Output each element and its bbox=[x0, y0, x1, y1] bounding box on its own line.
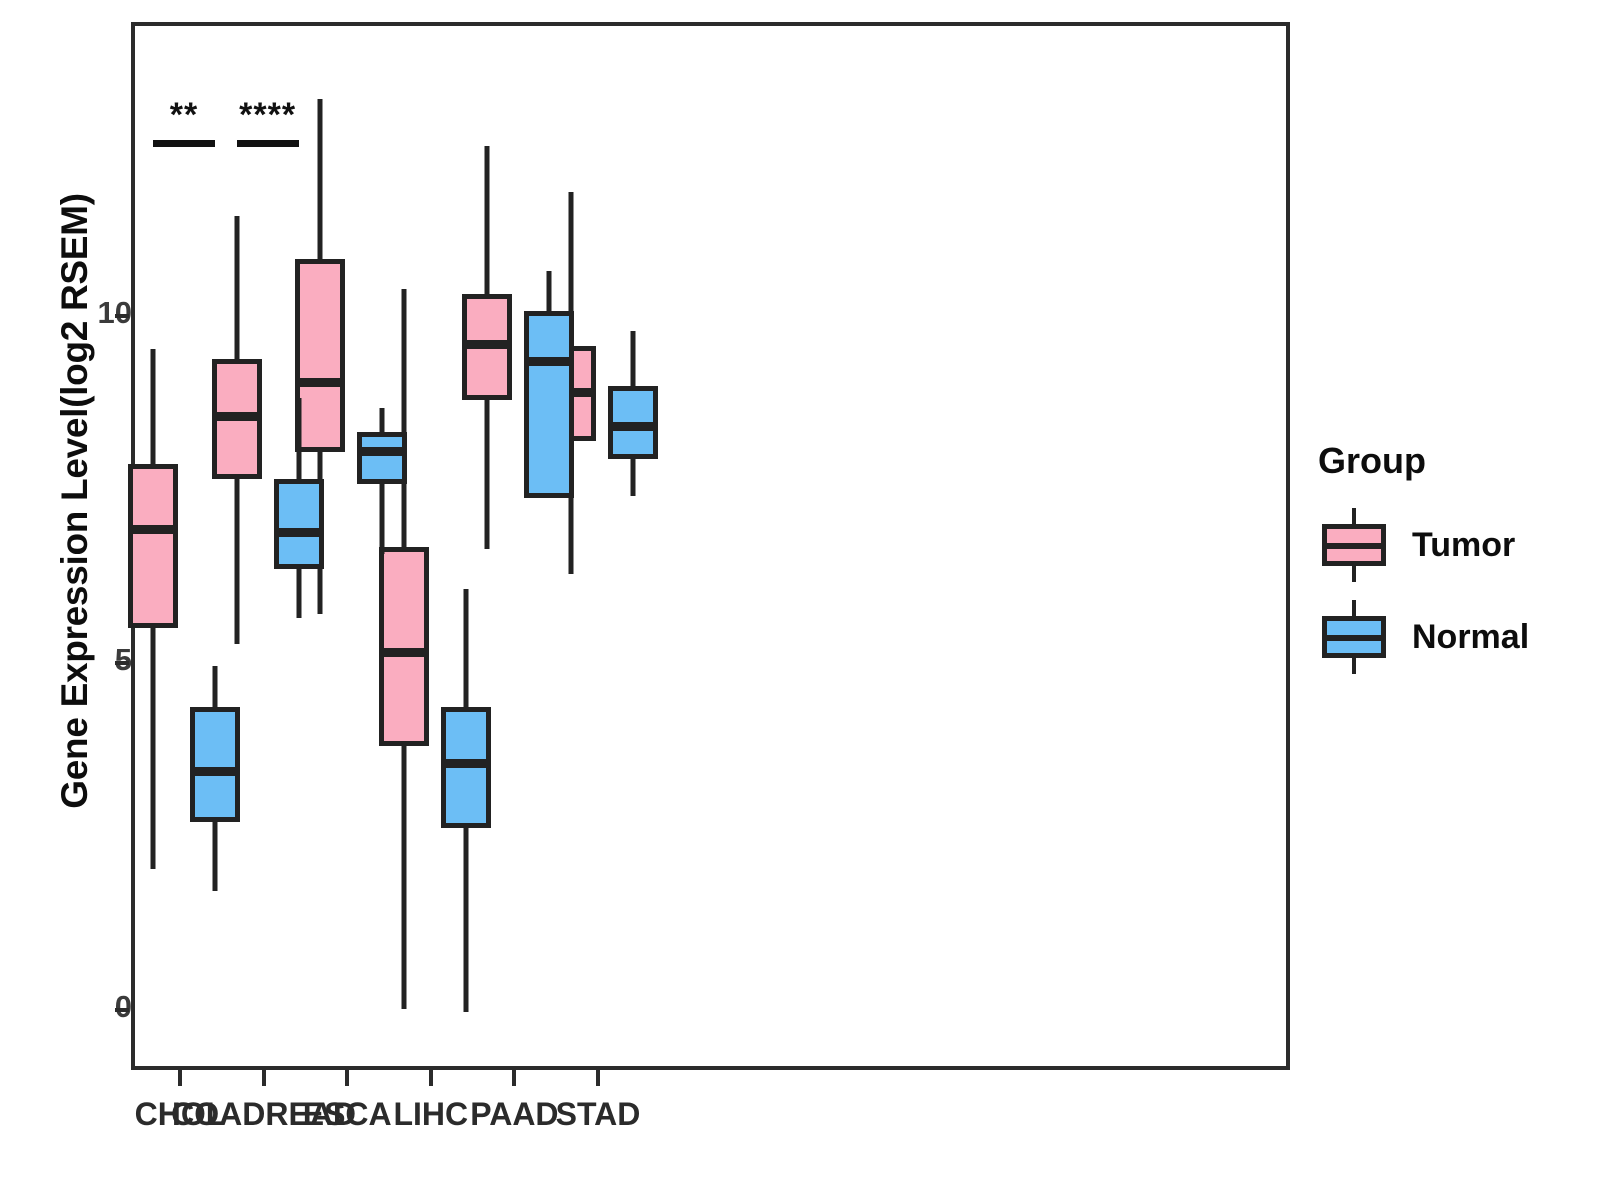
legend-label: Tumor bbox=[1412, 526, 1515, 565]
y-tick-label: 10 bbox=[72, 295, 132, 331]
median-line bbox=[212, 412, 262, 421]
median-line bbox=[462, 340, 512, 349]
median-line bbox=[357, 447, 407, 456]
significance-label: **** bbox=[239, 96, 296, 135]
box-lihc-tumor bbox=[379, 547, 429, 746]
x-tick-mark bbox=[596, 1070, 600, 1086]
x-tick-mark bbox=[178, 1070, 182, 1086]
median-line bbox=[441, 759, 491, 768]
legend-key-icon bbox=[1318, 600, 1390, 674]
plot-panel: ****** bbox=[131, 22, 1290, 1070]
box-chol-normal bbox=[190, 707, 240, 822]
legend-label: Normal bbox=[1412, 618, 1529, 657]
median-line bbox=[128, 525, 178, 534]
y-tick-mark bbox=[115, 1008, 129, 1012]
median-line bbox=[190, 767, 240, 776]
legend-entries: TumorNormal bbox=[1318, 508, 1588, 674]
box-esca-tumor bbox=[295, 259, 345, 452]
y-axis-title: Gene Expression Level(log2 RSEM) bbox=[54, 121, 96, 881]
x-tick-label-paad: PAAD bbox=[470, 1096, 558, 1133]
legend-title: Group bbox=[1318, 440, 1588, 482]
chart-root: Gene Expression Level(log2 RSEM) 0510 CH… bbox=[0, 0, 1600, 1200]
box-paad-normal bbox=[524, 311, 574, 498]
median-line bbox=[608, 422, 658, 431]
x-tick-mark bbox=[429, 1070, 433, 1086]
legend-key-icon bbox=[1318, 508, 1390, 582]
x-tick-mark bbox=[512, 1070, 516, 1086]
legend-item-normal[interactable]: Normal bbox=[1318, 600, 1588, 674]
median-line bbox=[274, 528, 324, 537]
legend-item-tumor[interactable]: Tumor bbox=[1318, 508, 1588, 582]
median-line bbox=[379, 648, 429, 657]
median-line bbox=[524, 357, 574, 366]
x-tick-mark bbox=[262, 1070, 266, 1086]
significance-bar bbox=[153, 140, 215, 147]
y-tick-label: 5 bbox=[72, 642, 132, 678]
significance-bar bbox=[237, 140, 299, 147]
x-tick-label-esca: ESCA bbox=[303, 1096, 392, 1133]
x-tick-mark bbox=[345, 1070, 349, 1086]
box-coadread-normal bbox=[274, 479, 324, 569]
legend: Group TumorNormal bbox=[1318, 440, 1588, 692]
y-tick-mark bbox=[115, 314, 129, 318]
plot-area: ****** bbox=[135, 26, 1286, 1066]
significance-label: ** bbox=[170, 96, 198, 135]
x-tick-label-lihc: LIHC bbox=[393, 1096, 468, 1133]
x-tick-label-stad: STAD bbox=[556, 1096, 641, 1133]
median-line bbox=[295, 378, 345, 387]
box-esca-normal bbox=[357, 432, 407, 485]
y-tick-label: 0 bbox=[72, 989, 132, 1025]
y-tick-mark bbox=[115, 661, 129, 665]
box-chol-tumor bbox=[128, 464, 178, 628]
